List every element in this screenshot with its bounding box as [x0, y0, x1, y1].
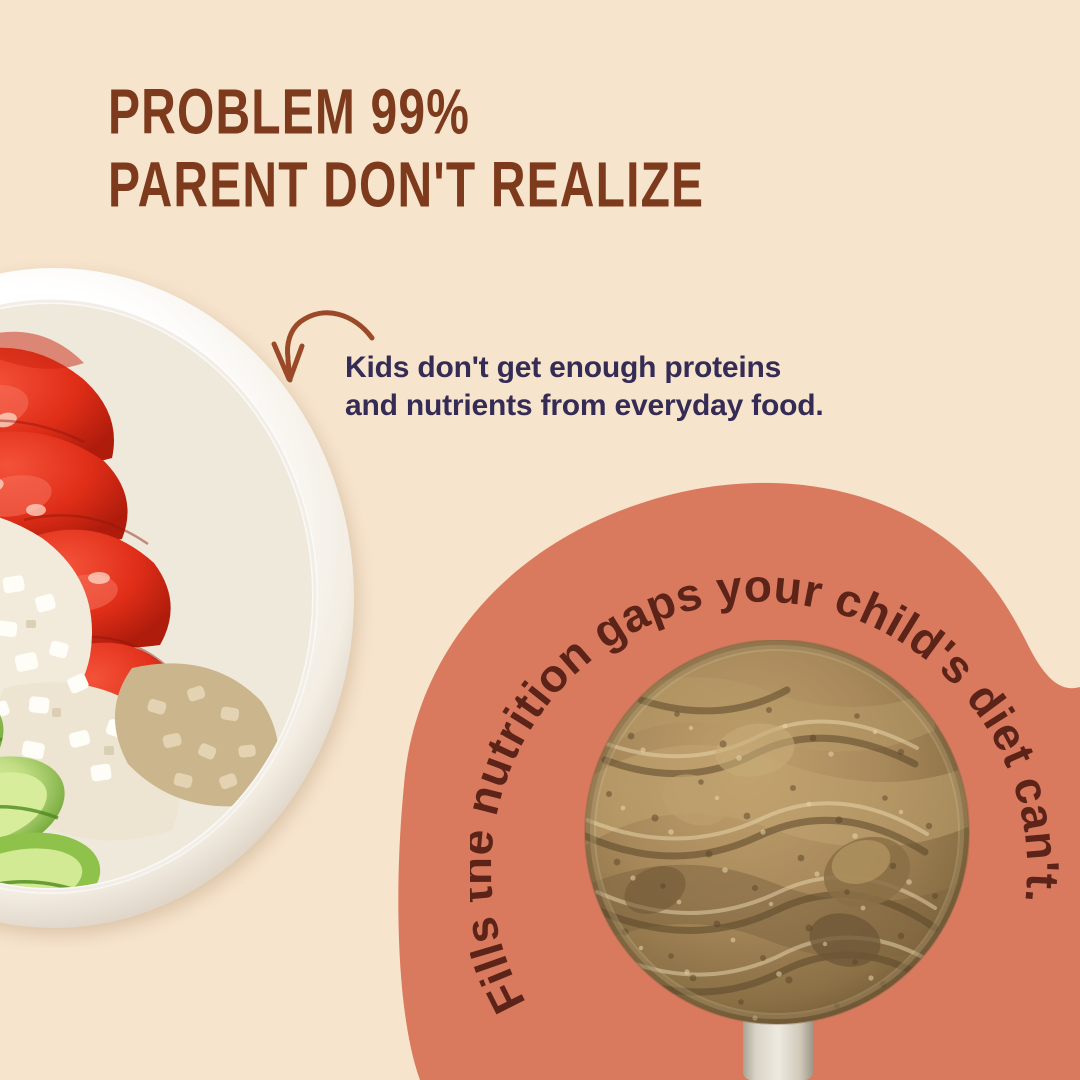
scoop-svg: [545, 640, 1015, 1080]
body-line-2: and nutrients from everyday food.: [345, 387, 823, 425]
poster-canvas: Fills the nutrition gaps your child's di…: [0, 0, 1080, 1080]
body-line-1: Kids don't get enough proteins: [345, 349, 823, 387]
powder-mound: [575, 640, 979, 1024]
supporting-statement: Kids don't get enough proteins and nutri…: [345, 349, 823, 425]
protein-powder-scoop-photo: [545, 640, 1015, 1080]
headline-line-2: PARENT DON'T REALIZE: [108, 149, 838, 222]
headline-line-1: PROBLEM 99%: [108, 76, 838, 149]
problem-headline: PROBLEM 99% PARENT DON'T REALIZE: [108, 76, 838, 222]
